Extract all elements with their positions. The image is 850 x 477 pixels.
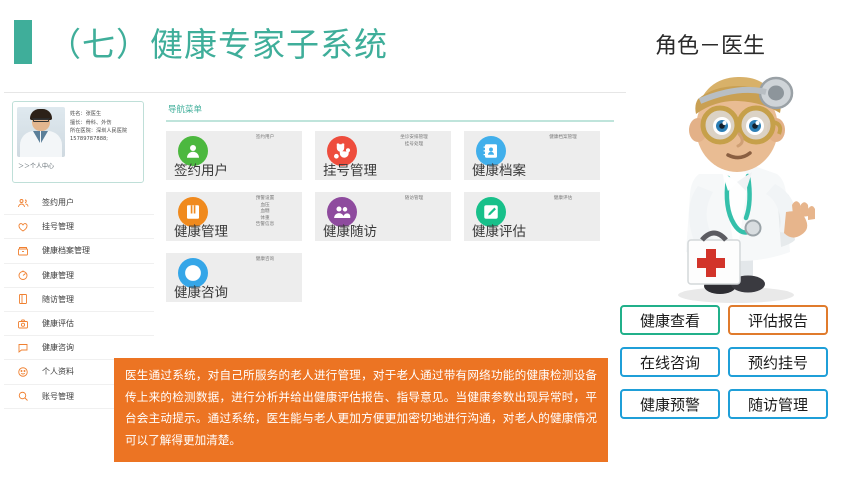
module-card-grid: 签约用户签约用户坐诊安排管理挂号处理挂号管理健康档案管理健康档案预警设置血压血糖…	[166, 131, 621, 314]
module-card-sublabels: 坐诊安排管理挂号处理	[383, 135, 445, 148]
role-label: 角色－医生	[655, 28, 765, 60]
module-card-sublabels: 签约用户	[234, 135, 296, 142]
module-card-title: 挂号管理	[323, 159, 377, 179]
module-card-title: 健康咨询	[174, 281, 228, 301]
feature-button-label: 预约挂号	[748, 352, 808, 373]
sidebar-item-label: 随访管理	[42, 294, 74, 305]
sidebar-item-5[interactable]: 随访管理	[4, 288, 154, 312]
module-card-title: 健康档案	[472, 159, 526, 179]
module-card-6[interactable]: 健康评估健康评估	[464, 192, 600, 241]
sidebar-item-label: 挂号管理	[42, 221, 74, 232]
module-card-1[interactable]: 签约用户签约用户	[166, 131, 302, 180]
module-card-sublabel: 健康评估	[532, 196, 594, 203]
profile-card: 姓名：张医生 擅长：骨科、外伤 所在医院：深圳人民医院 15789787888;…	[12, 101, 144, 183]
search-icon	[16, 389, 30, 403]
sidebar-item-6[interactable]: 健康评估	[4, 312, 154, 336]
title-text: （七）健康专家子系统	[48, 18, 388, 66]
module-card-sublabel: 随访管理	[383, 196, 445, 203]
feature-button-label: 在线咨询	[640, 352, 700, 373]
module-card-sublabel: 签约用户	[234, 135, 296, 142]
archive-icon	[16, 244, 30, 258]
module-card-sublabels: 健康咨询	[234, 257, 296, 264]
profile-specialty: 擅长：骨科、外伤	[70, 119, 140, 128]
avatar	[17, 107, 65, 157]
sidebar-item-7[interactable]: 健康咨询	[4, 336, 154, 360]
feature-button-1[interactable]: 健康查看	[620, 305, 720, 335]
sidebar-item-3[interactable]: 健康档案管理	[4, 239, 154, 263]
sidebar-item-label: 健康档案管理	[42, 245, 90, 256]
nav-menu-heading: 导航菜单	[166, 103, 626, 115]
heart-icon	[16, 220, 30, 234]
module-card-sublabels: 健康评估	[532, 196, 594, 203]
content-area: 导航菜单 签约用户签约用户坐诊安排管理挂号处理挂号管理健康档案管理健康档案预警设…	[154, 93, 626, 381]
module-card-sublabels: 预警设置血压血糖体重告警信息	[234, 196, 296, 229]
module-card-2[interactable]: 坐诊安排管理挂号处理挂号管理	[315, 131, 451, 180]
sidebar-item-label: 签约用户	[42, 197, 74, 208]
book-icon	[16, 292, 30, 306]
profile-hospital: 所在医院：深圳人民医院	[70, 127, 140, 135]
feature-button-6[interactable]: 随访管理	[728, 389, 828, 419]
users-icon	[16, 196, 30, 210]
chat-icon	[16, 341, 30, 355]
app-window: 姓名：张医生 擅长：骨科、外伤 所在医院：深圳人民医院 15789787888;…	[4, 92, 626, 381]
sidebar-item-1[interactable]: 签约用户	[4, 191, 154, 215]
module-card-sublabel: 健康咨询	[234, 257, 296, 264]
module-card-sublabel: 坐诊安排管理	[383, 135, 445, 142]
profile-name: 姓名：张医生	[70, 110, 140, 119]
description-text: 医生通过系统，对自己所服务的老人进行管理，对于老人通过带有网络功能的健康检测设备…	[125, 365, 597, 451]
page-title: （七）健康专家子系统	[14, 18, 388, 66]
module-card-sublabel: 血糖	[234, 209, 296, 216]
feature-button-grid: 健康查看评估报告在线咨询预约挂号健康预警随访管理	[620, 305, 846, 431]
profile-phone: 15789787888;	[70, 135, 140, 144]
feature-button-label: 健康预警	[640, 394, 700, 415]
cartoon-doctor-illustration	[636, 62, 846, 307]
feature-button-4[interactable]: 预约挂号	[728, 347, 828, 377]
module-card-title: 签约用户	[174, 159, 228, 179]
sidebar: 姓名：张医生 擅长：骨科、外伤 所在医院：深圳人民医院 15789787888;…	[4, 93, 155, 381]
feature-button-label: 健康查看	[640, 310, 700, 331]
module-card-5[interactable]: 随访管理健康随访	[315, 192, 451, 241]
sidebar-item-4[interactable]: 健康管理	[4, 264, 154, 288]
module-card-title: 健康评估	[472, 220, 526, 240]
module-card-title: 健康管理	[174, 220, 228, 240]
module-card-sublabels: 健康档案管理	[532, 135, 594, 142]
sidebar-item-2[interactable]: 挂号管理	[4, 215, 154, 239]
module-card-7[interactable]: 健康咨询健康咨询	[166, 253, 302, 302]
module-card-sublabel: 挂号处理	[383, 142, 445, 149]
module-card-sublabel: 健康档案管理	[532, 135, 594, 142]
feature-button-label: 随访管理	[748, 394, 808, 415]
feature-button-3[interactable]: 在线咨询	[620, 347, 720, 377]
personal-center-link[interactable]: ＞＞个人中心	[17, 161, 139, 170]
camera-icon	[16, 317, 30, 331]
feature-button-2[interactable]: 评估报告	[728, 305, 828, 335]
sidebar-item-label: 账号管理	[42, 391, 74, 402]
title-accent-bar	[14, 20, 32, 64]
sidebar-item-label: 健康咨询	[42, 342, 74, 353]
sidebar-item-label: 个人资料	[42, 366, 74, 377]
smiley-icon	[16, 365, 30, 379]
feature-button-label: 评估报告	[748, 310, 808, 331]
module-card-sublabel: 告警信息	[234, 222, 296, 229]
nav-menu-divider	[166, 120, 614, 122]
module-card-title: 健康随访	[323, 220, 377, 240]
module-card-sublabel: 预警设置	[234, 196, 296, 203]
module-card-4[interactable]: 预警设置血压血糖体重告警信息健康管理	[166, 192, 302, 241]
module-card-3[interactable]: 健康档案管理健康档案	[464, 131, 600, 180]
dashboard-icon	[16, 268, 30, 282]
feature-button-5[interactable]: 健康预警	[620, 389, 720, 419]
description-box: 医生通过系统，对自己所服务的老人进行管理，对于老人通过带有网络功能的健康检测设备…	[114, 358, 608, 462]
sidebar-item-label: 健康管理	[42, 270, 74, 281]
module-card-sublabels: 随访管理	[383, 196, 445, 203]
sidebar-item-label: 健康评估	[42, 318, 74, 329]
